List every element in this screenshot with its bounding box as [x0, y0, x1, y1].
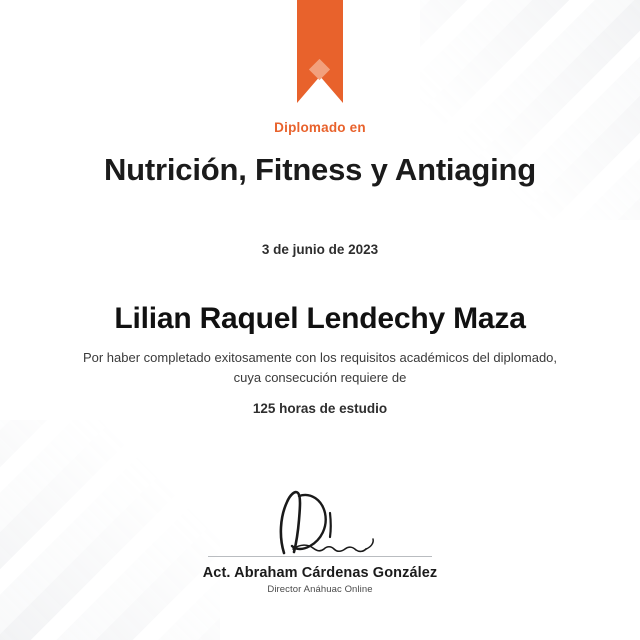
statement-text: Por haber completado exitosamente con lo… [0, 348, 640, 388]
handwritten-signature-icon [0, 480, 640, 556]
program-eyebrow: Diplomado en [0, 120, 640, 135]
signatory-name: Act. Abraham Cárdenas González [0, 565, 640, 581]
recipient-name: Lilian Raquel Lendechy Maza [0, 302, 640, 336]
program-title: Nutrición, Fitness y Antiaging [0, 152, 640, 188]
signature-divider [208, 556, 432, 557]
certificate-canvas: Diplomado en Nutrición, Fitness y Antiag… [0, 0, 640, 640]
issue-date: 3 de junio de 2023 [0, 242, 640, 257]
study-hours: 125 horas de estudio [0, 401, 640, 416]
ribbon-banner-icon [297, 0, 343, 103]
signatory-role: Director Anáhuac Online [0, 584, 640, 595]
statement-line-1: Por haber completado exitosamente con lo… [0, 348, 640, 368]
signature-block: Act. Abraham Cárdenas González Director … [0, 480, 640, 595]
statement-line-2: cuya consecución requiere de [0, 368, 640, 388]
